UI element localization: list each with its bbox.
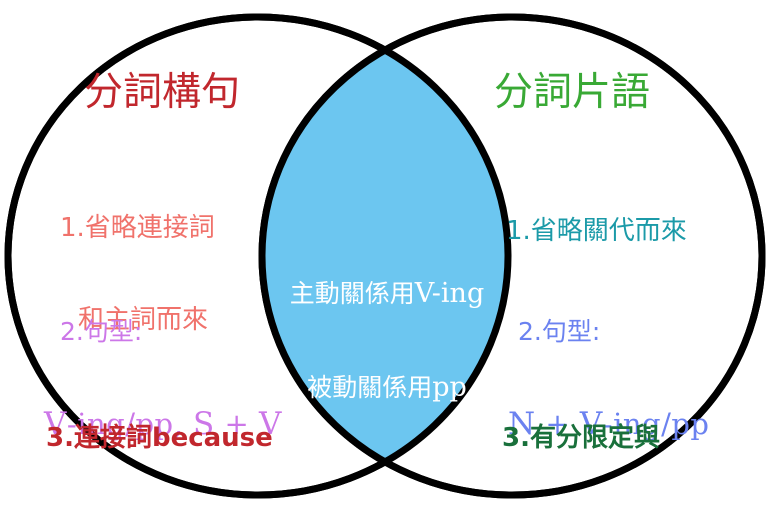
right-item-3-line-1: 3.有分限定與: [502, 423, 660, 454]
right-set-title: 分詞片語: [494, 70, 650, 116]
right-set-item-3: 3.有分限定與 非限定用法: [502, 362, 660, 513]
intersection-text: 主動關係用V-ing 被動關係用pp: [262, 217, 512, 466]
intersection-line-1: 主動關係用V-ing: [262, 278, 512, 311]
intersection-line-2-cjk: 被動關係用: [307, 373, 432, 402]
right-item-1-line-1: 1.省略關代而來: [506, 216, 687, 247]
intersection-line-2: 被動關係用pp: [262, 372, 512, 405]
intersection-line-2-latin: pp: [432, 372, 467, 403]
left-item-2-line-1: 2.句型:: [44, 317, 282, 347]
intersection-line-1-latin: V-ing: [415, 278, 484, 309]
left-set-title: 分詞構句: [84, 70, 240, 116]
left-set-item-3: 3.連接詞because 必須省略: [46, 362, 273, 513]
left-item-3-line-1: 3.連接詞because: [46, 423, 273, 454]
venn-diagram-canvas: 分詞構句 1.省略連接詞 和主詞而來 2.句型: V-ing/pp, S + V…: [0, 0, 768, 513]
right-item-2-line-1: 2.句型:: [518, 317, 709, 347]
left-item-1-line-1: 1.省略連接詞: [60, 213, 215, 244]
intersection-line-1-cjk: 主動關係用: [290, 279, 415, 308]
